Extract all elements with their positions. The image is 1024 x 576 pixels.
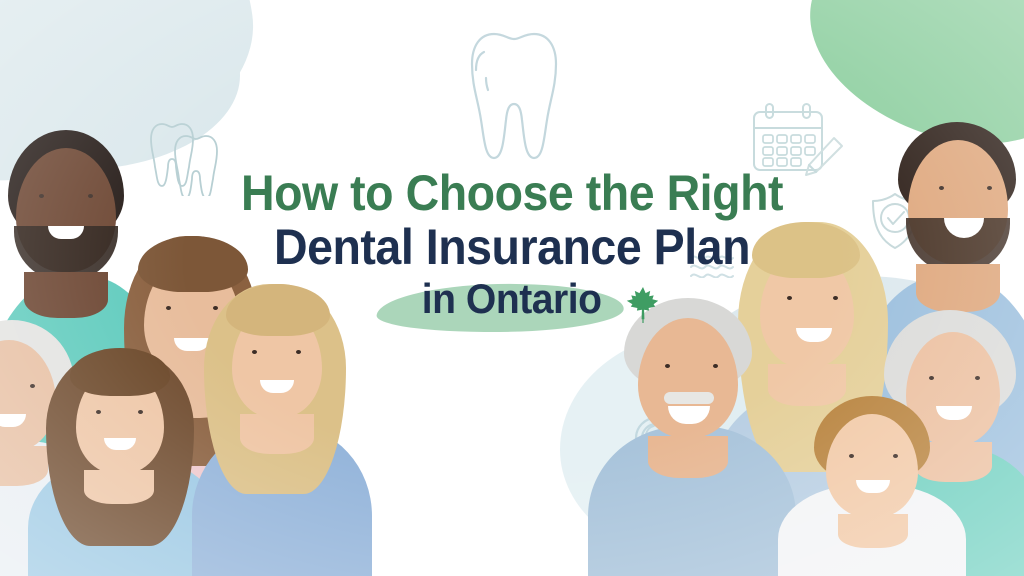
blob-top-right: [787, 0, 1024, 172]
banner-canvas: How to Choose the Right Dental Insurance…: [0, 0, 1024, 576]
people-group-left: [0, 76, 345, 576]
headline-line-3-wrap: in Ontario: [405, 278, 618, 320]
person-senior-woman-right: [860, 306, 1024, 576]
wave-lines-icon: [160, 438, 228, 472]
person-boy-white-shirt: [792, 396, 952, 576]
blob-bottom-right: [644, 276, 1024, 576]
headline-block: How to Choose the Right Dental Insurance…: [0, 168, 1024, 320]
headline-line-3: in Ontario: [413, 278, 611, 320]
person-senior-man-right: [592, 296, 782, 576]
blob-bottom-left: [0, 416, 240, 576]
person-woman-blue-sweater: [198, 276, 358, 576]
maple-leaf-icon: [625, 286, 661, 329]
headline-line-1: How to Choose the Right: [36, 168, 988, 218]
blob-top-left-2: [0, 0, 240, 170]
blob-center-right: [560, 330, 820, 560]
tooth-large-icon: [452, 22, 582, 172]
person-girl-blue-polo: [40, 346, 210, 576]
person-senior-woman-left: [0, 316, 90, 576]
magnifier-icon: [630, 412, 696, 478]
headline-line-2: Dental Insurance Plan: [36, 222, 988, 272]
